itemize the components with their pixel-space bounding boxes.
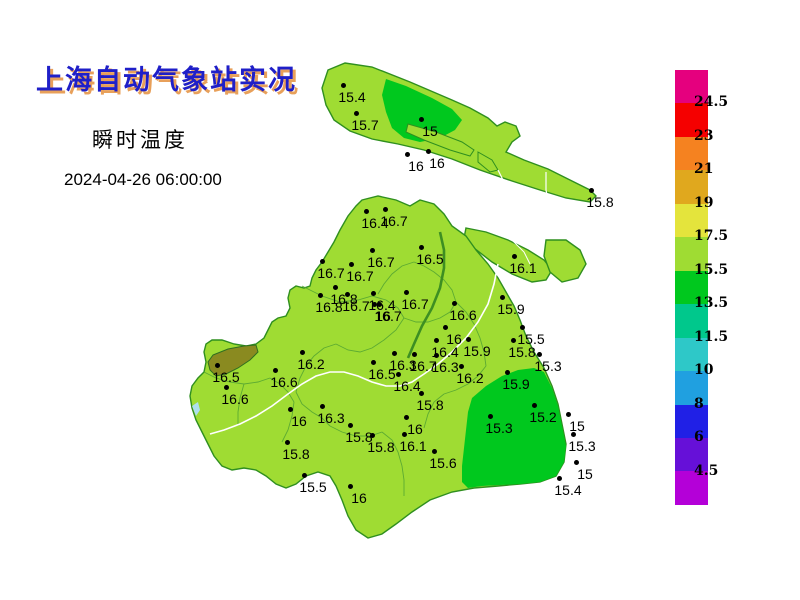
region-hengsha — [544, 240, 586, 282]
station-temperature-value: 15.6 — [420, 455, 466, 471]
station-temperature-value: 16.8 — [306, 299, 352, 315]
colorbar-tick-label: 6 — [694, 429, 704, 445]
station-dot-icon — [532, 403, 537, 408]
station-temperature-value: 16 — [414, 155, 460, 171]
station-dot-icon — [345, 292, 350, 297]
colorbar-tick-label: 24.5 — [694, 94, 728, 110]
station-temperature-value: 15 — [562, 466, 608, 482]
station-dot-icon — [402, 432, 407, 437]
station-temperature-value: 15.9 — [488, 301, 534, 317]
station-dot-icon — [432, 449, 437, 454]
station-dot-icon — [419, 245, 424, 250]
station-dot-icon — [459, 364, 464, 369]
station-dot-icon — [574, 460, 579, 465]
station-dot-icon — [300, 350, 305, 355]
station-dot-icon — [537, 352, 542, 357]
station-dot-icon — [318, 293, 323, 298]
colorbar-tick-label: 17.5 — [694, 228, 728, 244]
station-dot-icon — [466, 337, 471, 342]
colorbar-tick-label: 21 — [694, 161, 713, 177]
colorbar-tick-label: 8 — [694, 396, 704, 412]
colorbar-labels: 24.523211917.515.513.511.510864.5 — [694, 70, 764, 530]
station-temperature-value: 16.6 — [261, 374, 307, 390]
station-dot-icon — [434, 353, 439, 358]
station-temperature-value: 16.6 — [440, 307, 486, 323]
station-dot-icon — [377, 302, 382, 307]
station-temperature-value: 15.7 — [342, 117, 388, 133]
station-temperature-value: 15.4 — [545, 482, 591, 498]
colorbar-tick-label: 11.5 — [694, 329, 728, 345]
station-dot-icon — [348, 484, 353, 489]
station-dot-icon — [404, 415, 409, 420]
station-dot-icon — [349, 262, 354, 267]
station-temperature-value: 15.5 — [290, 479, 336, 495]
station-dot-icon — [419, 391, 424, 396]
station-temperature-value: 16 — [392, 421, 438, 437]
colorbar-tick-label: 19 — [694, 195, 713, 211]
station-temperature-value: 16.5 — [407, 251, 453, 267]
station-dot-icon — [354, 111, 359, 116]
station-dot-icon — [364, 209, 369, 214]
station-temperature-value: 15 — [554, 418, 600, 434]
station-dot-icon — [505, 370, 510, 375]
station-dot-icon — [371, 291, 376, 296]
station-dot-icon — [396, 372, 401, 377]
station-dot-icon — [273, 368, 278, 373]
station-dot-icon — [288, 407, 293, 412]
station-dot-icon — [566, 412, 571, 417]
station-dot-icon — [500, 295, 505, 300]
station-dot-icon — [488, 414, 493, 419]
station-dot-icon — [224, 385, 229, 390]
station-temperature-value: 16.5 — [203, 369, 249, 385]
station-dot-icon — [320, 404, 325, 409]
station-temperature-value: 15.9 — [493, 376, 539, 392]
station-dot-icon — [419, 117, 424, 122]
station-dot-icon — [434, 338, 439, 343]
station-temperature-value: 15 — [407, 123, 453, 139]
station-temperature-value: 15.4 — [329, 89, 375, 105]
colorbar-tick-label: 13.5 — [694, 295, 728, 311]
station-dot-icon — [512, 254, 517, 259]
station-temperature-value: 15.8 — [407, 397, 453, 413]
station-dot-icon — [370, 248, 375, 253]
station-dot-icon — [405, 152, 410, 157]
station-temperature-value: 15.9 — [454, 343, 500, 359]
station-dot-icon — [371, 360, 376, 365]
station-dot-icon — [370, 433, 375, 438]
station-temperature-value: 15.8 — [577, 194, 623, 210]
station-dot-icon — [412, 352, 417, 357]
station-dot-icon — [372, 302, 377, 307]
station-dot-icon — [320, 259, 325, 264]
station-temperature-value: 15.3 — [525, 358, 571, 374]
station-dot-icon — [426, 149, 431, 154]
station-temperature-value: 16.6 — [212, 391, 258, 407]
station-dot-icon — [520, 325, 525, 330]
station-dot-icon — [383, 207, 388, 212]
station-dot-icon — [589, 188, 594, 193]
station-dot-icon — [348, 423, 353, 428]
station-temperature-value: 15.3 — [476, 420, 522, 436]
station-temperature-value: 16.1 — [500, 260, 546, 276]
colorbar-tick-label: 10 — [694, 362, 713, 378]
station-dot-icon — [392, 351, 397, 356]
colorbar-tick-label: 23 — [694, 128, 713, 144]
station-dot-icon — [571, 432, 576, 437]
station-dot-icon — [285, 440, 290, 445]
station-temperature-value: 16.3 — [308, 410, 354, 426]
station-temperature-value: 16.7 — [371, 213, 417, 229]
station-dot-icon — [452, 301, 457, 306]
station-temperature-value: 16.7 — [337, 268, 383, 284]
station-temperature-value: 16 — [336, 490, 382, 506]
station-dot-icon — [404, 290, 409, 295]
station-temperature-value: 16.2 — [447, 370, 493, 386]
station-dot-icon — [557, 476, 562, 481]
station-dot-icon — [443, 325, 448, 330]
station-temperature-value: 16 — [360, 308, 406, 324]
station-dot-icon — [302, 473, 307, 478]
station-dot-icon — [341, 83, 346, 88]
station-dot-icon — [333, 285, 338, 290]
colorbar-tick-label: 4.5 — [694, 463, 718, 479]
station-temperature-value: 16.1 — [390, 438, 436, 454]
station-temperature-value: 16.2 — [288, 356, 334, 372]
station-dot-icon — [215, 363, 220, 368]
station-temperature-value: 15.8 — [273, 446, 319, 462]
colorbar-tick-label: 15.5 — [694, 262, 728, 278]
station-dot-icon — [511, 338, 516, 343]
screenshot-canvas: 上海自动气象站实况 上海自动气象站实况 瞬时温度 2024-04-26 06:0… — [0, 0, 800, 600]
station-temperature-value: 15.3 — [559, 438, 605, 454]
